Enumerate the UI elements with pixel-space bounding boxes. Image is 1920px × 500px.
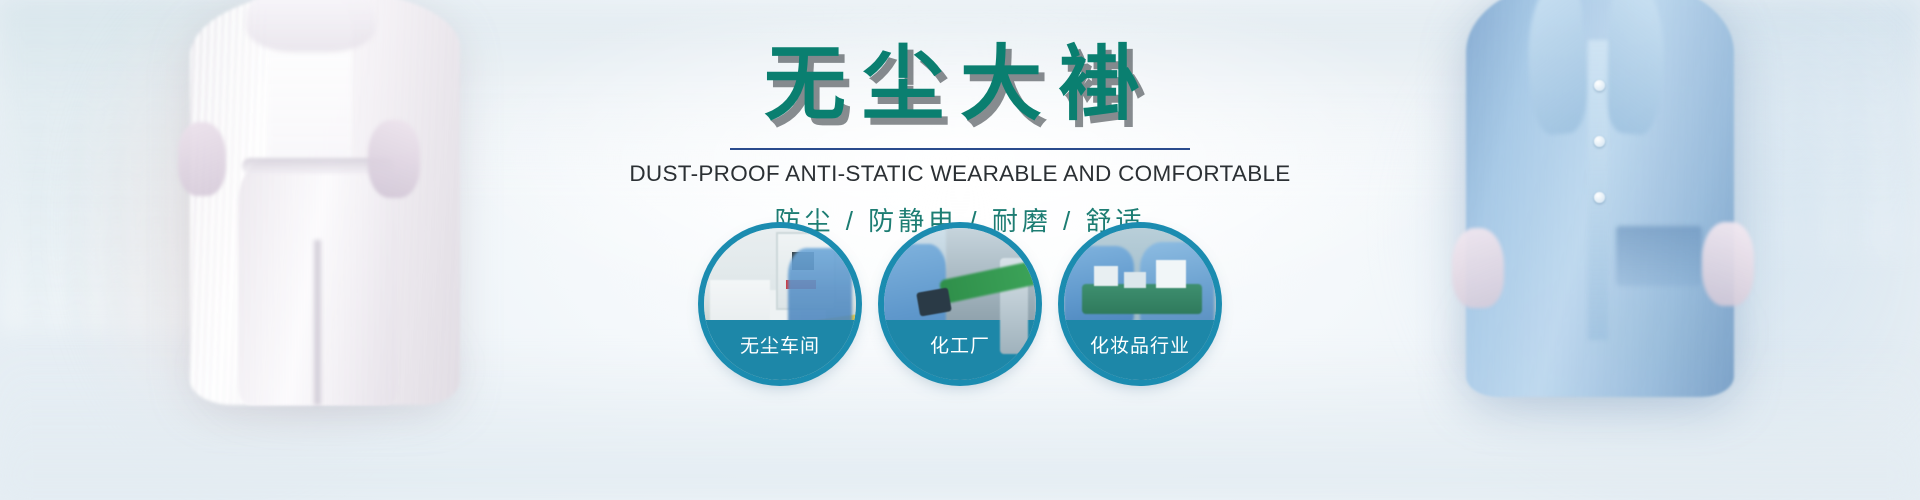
chemical-plant-tablet-device	[916, 287, 952, 316]
banner-subtitle-english: DUST-PROOF ANTI-STATIC WEARABLE AND COMF…	[0, 161, 1920, 187]
headline-divider-rule	[730, 148, 1190, 150]
cosmetics-product-box-1	[1094, 266, 1118, 286]
banner-headline: 无尘大褂	[0, 0, 1920, 126]
badge-chemical-plant-label: 化工厂	[930, 337, 990, 364]
badge-cleanroom[interactable]: 无尘车间	[704, 228, 856, 380]
cosmetics-worktable	[1082, 284, 1202, 314]
badge-cleanroom-label: 无尘车间	[740, 337, 820, 364]
badge-cosmetics-industry[interactable]: 化妆品行业	[1064, 228, 1216, 380]
application-badge-list: 无尘车间 化工厂 化妆品行业	[0, 228, 1920, 380]
headline-divider-wrap	[730, 148, 1190, 150]
cosmetics-product-box-2	[1156, 260, 1186, 288]
cleanroom-warning-sign	[786, 280, 816, 289]
cleanroom-door	[776, 232, 836, 310]
cleanroom-control-panel-icon	[790, 250, 816, 272]
product-banner: 无尘大褂 DUST-PROOF ANTI-STATIC WEARABLE AND…	[0, 0, 1920, 500]
cosmetics-product-box-3	[1124, 272, 1146, 288]
badge-cleanroom-caption: 无尘车间	[704, 320, 856, 380]
banner-center-content: 无尘大褂 DUST-PROOF ANTI-STATIC WEARABLE AND…	[0, 0, 1920, 238]
badge-cosmetics-industry-label: 化妆品行业	[1090, 337, 1190, 364]
badge-cosmetics-industry-caption: 化妆品行业	[1064, 320, 1216, 380]
badge-chemical-plant[interactable]: 化工厂	[884, 228, 1036, 380]
